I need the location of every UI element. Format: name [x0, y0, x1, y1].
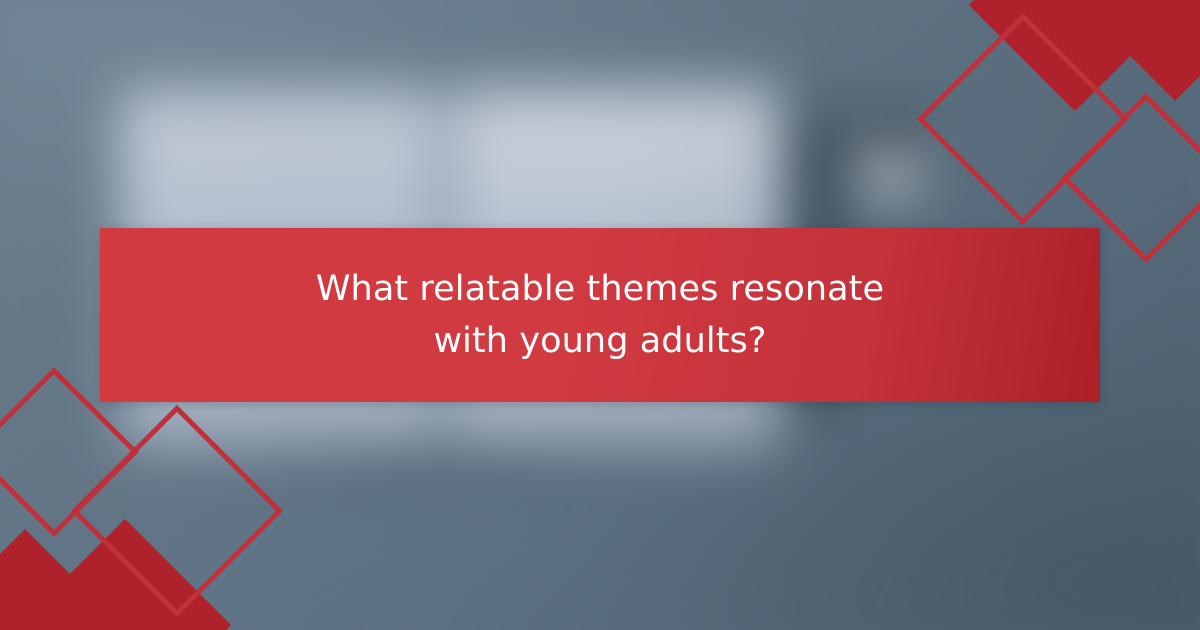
quote-banner: What relatable themes resonate with youn…	[100, 228, 1100, 402]
quote-text: What relatable themes resonate with youn…	[220, 263, 980, 368]
quote-card: What relatable themes resonate with youn…	[0, 0, 1200, 630]
